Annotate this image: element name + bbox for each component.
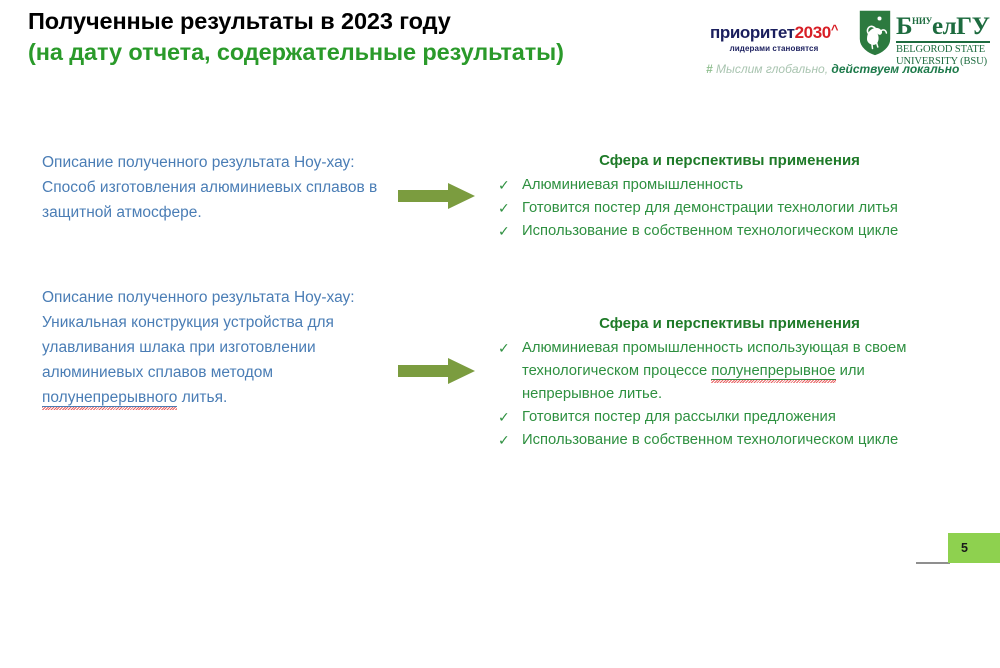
- bsu-logo-text: БНИУелГУ BELGOROD STATE UNIVERSITY (BSU): [896, 8, 992, 68]
- priority-2030-logo: приоритет2030^ лидерами становятся: [704, 20, 844, 54]
- application-scope-heading-1: Сфера и перспективы применения: [490, 150, 945, 171]
- right-arrow-icon: [398, 182, 476, 210]
- bsu-letters-gu: ГУ: [956, 13, 989, 40]
- application-scope-2: Сфера и перспективы применения ✓ Алюмини…: [490, 313, 945, 452]
- slide-header: Полученные результаты в 2023 году (на да…: [0, 0, 1000, 90]
- bsu-logo-divider: [896, 41, 990, 43]
- lion-shield-icon: [858, 9, 892, 57]
- right-arrow-icon: [398, 357, 476, 385]
- title-line-primary: Полученные результаты в 2023 году: [28, 6, 668, 37]
- slide-canvas: Полученные результаты в 2023 году (на да…: [0, 0, 1000, 668]
- list-item-misspelled-word: полунепрерывное: [711, 363, 835, 380]
- page-title: Полученные результаты в 2023 году (на да…: [28, 6, 668, 68]
- bsu-logo: БНИУелГУ BELGOROD STATE UNIVERSITY (BSU): [858, 8, 990, 64]
- bsu-letters-el: ел: [932, 13, 956, 40]
- footer-divider: [916, 562, 950, 564]
- application-list-2: ✓ Алюминиевая промышленность использующа…: [490, 337, 945, 452]
- bsu-letter-b: Б: [896, 13, 912, 40]
- priority-logo-word: приоритет: [710, 23, 795, 42]
- priority-logo-year: 2030: [795, 23, 831, 42]
- application-list-1: ✓ Алюминиевая промышленность ✓ Готовится…: [490, 174, 945, 243]
- list-item-label: Готовится постер для рассылки предложени…: [522, 409, 836, 425]
- tagline: # Мыслим глобально, действуем локально: [706, 61, 959, 77]
- list-item-label: Готовится постер для демонстрации технол…: [522, 200, 898, 216]
- result-description-1: Описание полученного результата Ноу-хау:…: [42, 150, 387, 225]
- page-number-label: 5: [961, 540, 968, 556]
- title-line-secondary: (на дату отчета, содержательные результа…: [28, 37, 668, 68]
- priority-logo-wordmark: приоритет2030^: [704, 20, 844, 42]
- check-icon: ✓: [498, 197, 510, 220]
- result-description-2-post: литья.: [177, 389, 227, 406]
- list-item-label: Алюминиевая промышленность: [522, 177, 743, 193]
- list-item: ✓ Использование в собственном технологич…: [490, 220, 945, 243]
- list-item-label: Использование в собственном технологичес…: [522, 432, 898, 448]
- list-item: ✓ Готовится постер для рассылки предложе…: [490, 406, 945, 429]
- check-icon: ✓: [498, 220, 510, 243]
- bsu-logo-english-line1: BELGOROD STATE: [896, 44, 992, 56]
- tagline-hash-icon: #: [706, 62, 713, 76]
- application-scope-1: Сфера и перспективы применения ✓ Алюмини…: [490, 150, 945, 243]
- tagline-light-part: Мыслим глобально,: [716, 62, 828, 76]
- result-description-2-pre: Описание полученного результата Ноу-хау:…: [42, 289, 355, 381]
- bsu-logo-cyrillic: БНИУелГУ: [896, 8, 992, 40]
- check-icon: ✓: [498, 337, 510, 360]
- bsu-niu-superscript: НИУ: [912, 16, 932, 26]
- check-icon: ✓: [498, 174, 510, 197]
- result-description-2-misspelled-word: полунепрерывного: [42, 389, 177, 407]
- priority-logo-caret-icon: ^: [831, 22, 838, 37]
- application-scope-heading-2: Сфера и перспективы применения: [490, 313, 945, 334]
- list-item: ✓ Алюминиевая промышленность: [490, 174, 945, 197]
- check-icon: ✓: [498, 429, 510, 452]
- priority-logo-subtitle: лидерами становятся: [704, 43, 844, 54]
- tagline-bold-part: действуем локально: [831, 62, 959, 76]
- check-icon: ✓: [498, 406, 510, 429]
- list-item: ✓ Использование в собственном технологич…: [490, 429, 945, 452]
- result-description-2: Описание полученного результата Ноу-хау:…: [42, 285, 387, 410]
- list-item: ✓ Готовится постер для демонстрации техн…: [490, 197, 945, 220]
- list-item-label: Использование в собственном технологичес…: [522, 223, 898, 239]
- page-number-badge: 5: [948, 533, 1000, 563]
- list-item: ✓ Алюминиевая промышленность использующа…: [490, 337, 945, 406]
